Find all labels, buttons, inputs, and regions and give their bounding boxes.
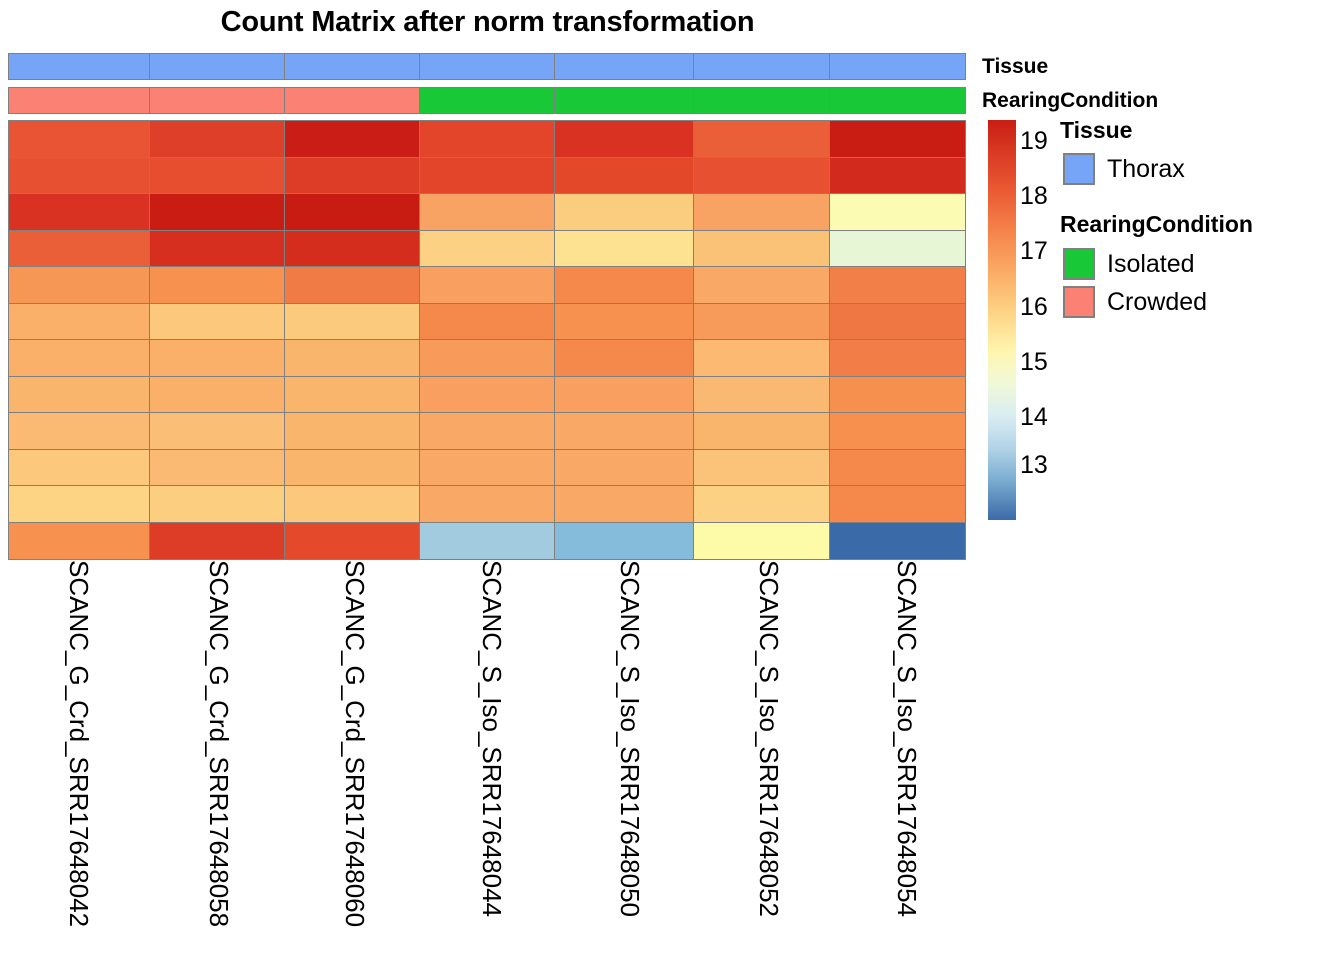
- heatmap-cell: [149, 449, 286, 487]
- heatmap-cell: [284, 376, 420, 414]
- heatmap-cell: [149, 120, 286, 158]
- colorbar-tick-label: 16: [1020, 295, 1048, 320]
- heatmap-row: [8, 449, 975, 486]
- column-label: SCANC_G_Crd_SRR17648042: [66, 560, 92, 927]
- heatmap-cell: [419, 376, 556, 414]
- heatmap-cell: [284, 485, 420, 523]
- heatmap-cell: [284, 230, 420, 268]
- colorbar-tick-label: 15: [1020, 350, 1048, 375]
- heatmap-cell: [419, 120, 556, 158]
- legend-swatch-isolated: [1063, 248, 1095, 280]
- heatmap-cell: [284, 412, 420, 450]
- heatmap-cell: [693, 157, 831, 195]
- heatmap-cell: [284, 266, 420, 304]
- annotation-cell: [829, 87, 966, 114]
- heatmap-cell: [693, 303, 831, 341]
- heatmap-cell: [554, 193, 694, 231]
- heatmap-cell: [554, 230, 694, 268]
- heatmap-cell: [8, 193, 150, 231]
- column-label-slot: SCANC_G_Crd_SRR17648042: [8, 560, 150, 958]
- heatmap-cell: [8, 449, 150, 487]
- column-label-slot: SCANC_S_Iso_SRR17648052: [700, 560, 838, 958]
- heatmap-cell: [419, 339, 556, 377]
- heatmap-cell: [554, 449, 694, 487]
- page-title: Count Matrix after norm transformation: [0, 2, 975, 42]
- heatmap-cell: [149, 157, 286, 195]
- heatmap-cell: [554, 376, 694, 414]
- heatmap-cell: [693, 449, 831, 487]
- heatmap-row: [8, 193, 975, 230]
- heatmap-cell: [149, 339, 286, 377]
- heatmap-cell: [829, 522, 966, 560]
- heatmap-cell: [693, 485, 831, 523]
- legend-label-thorax: Thorax: [1107, 157, 1185, 182]
- heatmap-cell: [554, 303, 694, 341]
- heatmap-row: [8, 157, 975, 194]
- heatmap-cell: [8, 522, 150, 560]
- heatmap-cell: [8, 266, 150, 304]
- column-label-slot: SCANC_G_Crd_SRR17648060: [287, 560, 423, 958]
- column-label: SCANC_S_Iso_SRR17648052: [756, 560, 782, 917]
- legend-item-thorax[interactable]: Thorax: [1063, 153, 1185, 185]
- heatmap-cell: [149, 412, 286, 450]
- annotation-cell: [693, 53, 831, 80]
- heatmap-row: [8, 412, 975, 449]
- heatmap-cell: [149, 266, 286, 304]
- heatmap-row: [8, 376, 975, 413]
- heatmap-cell: [829, 412, 966, 450]
- heatmap-row: [8, 120, 975, 157]
- rearing-condition-annotation-label: RearingCondition: [982, 87, 1158, 114]
- legend-title-rearing-condition: RearingCondition: [1060, 212, 1253, 236]
- heatmap-cell: [8, 157, 150, 195]
- column-label-slot: SCANC_S_Iso_SRR17648044: [423, 560, 560, 958]
- column-label: SCANC_S_Iso_SRR17648050: [617, 560, 643, 917]
- heatmap-cell: [829, 120, 966, 158]
- heatmap-cell: [693, 230, 831, 268]
- annotation-cell: [8, 53, 150, 80]
- rearing-condition-annotation-bar: [8, 87, 975, 114]
- heatmap-cell: [149, 485, 286, 523]
- colorbar: [988, 120, 1016, 520]
- heatmap-cell: [554, 120, 694, 158]
- heatmap-cell: [829, 266, 966, 304]
- tissue-annotation-bar: [8, 53, 975, 80]
- colorbar-tick-label: 17: [1020, 239, 1048, 264]
- legend-title-tissue: Tissue: [1060, 118, 1132, 142]
- legend-label-crowded: Crowded: [1107, 290, 1207, 315]
- annotation-cell: [419, 87, 556, 114]
- heatmap-row: [8, 230, 975, 267]
- colorbar-tick-label: 18: [1020, 184, 1048, 209]
- heatmap-cell: [149, 303, 286, 341]
- heatmap-cell: [284, 522, 420, 560]
- annotation-cell: [554, 53, 694, 80]
- legend-swatch-thorax: [1063, 153, 1095, 185]
- heatmap-cell: [8, 303, 150, 341]
- heatmap-row: [8, 485, 975, 522]
- heatmap-cell: [554, 339, 694, 377]
- heatmap-grid: [8, 120, 975, 558]
- colorbar-tick-label: 19: [1020, 129, 1048, 154]
- heatmap-cell: [829, 339, 966, 377]
- heatmap-cell: [149, 376, 286, 414]
- heatmap-row: [8, 266, 975, 303]
- heatmap-cell: [419, 485, 556, 523]
- heatmap-cell: [284, 339, 420, 377]
- heatmap-cell: [554, 412, 694, 450]
- heatmap-row: [8, 339, 975, 376]
- legend-item-isolated[interactable]: Isolated: [1063, 248, 1195, 280]
- heatmap-cell: [419, 303, 556, 341]
- column-label-slot: SCANC_G_Crd_SRR17648058: [150, 560, 287, 958]
- heatmap-cell: [829, 230, 966, 268]
- colorbar-gradient: [988, 120, 1016, 520]
- colorbar-tick-label: 14: [1020, 405, 1048, 430]
- annotation-cell: [284, 87, 420, 114]
- heatmap-cell: [149, 522, 286, 560]
- heatmap-cell: [554, 522, 694, 560]
- heatmap-cell: [554, 157, 694, 195]
- heatmap-cell: [693, 412, 831, 450]
- heatmap-cell: [829, 449, 966, 487]
- heatmap-cell: [693, 376, 831, 414]
- heatmap-cell: [284, 193, 420, 231]
- annotation-cell: [284, 53, 420, 80]
- heatmap-cell: [693, 339, 831, 377]
- heatmap-cell: [419, 157, 556, 195]
- column-label: SCANC_S_Iso_SRR17648044: [479, 560, 505, 917]
- heatmap-cell: [284, 303, 420, 341]
- column-labels: SCANC_G_Crd_SRR17648042SCANC_G_Crd_SRR17…: [8, 560, 975, 958]
- heatmap-row: [8, 303, 975, 340]
- heatmap-cell: [693, 193, 831, 231]
- heatmap-cell: [829, 485, 966, 523]
- column-label: SCANC_S_Iso_SRR17648054: [894, 560, 920, 917]
- annotation-cell: [554, 87, 694, 114]
- heatmap-cell: [829, 193, 966, 231]
- heatmap-cell: [554, 266, 694, 304]
- annotation-cell: [419, 53, 556, 80]
- heatmap-cell: [829, 303, 966, 341]
- tissue-annotation-label: Tissue: [982, 53, 1048, 80]
- heatmap-cell: [829, 157, 966, 195]
- annotation-cell: [693, 87, 831, 114]
- legend-swatch-crowded: [1063, 286, 1095, 318]
- heatmap-cell: [8, 376, 150, 414]
- annotation-cell: [149, 87, 286, 114]
- heatmap-cell: [284, 449, 420, 487]
- heatmap-cell: [829, 376, 966, 414]
- legend-label-isolated: Isolated: [1107, 252, 1195, 277]
- annotation-cell: [149, 53, 286, 80]
- heatmap-cell: [149, 193, 286, 231]
- heatmap-cell: [419, 522, 556, 560]
- heatmap-cell: [8, 230, 150, 268]
- heatmap-row: [8, 522, 975, 559]
- heatmap-cell: [419, 230, 556, 268]
- heatmap-cell: [419, 193, 556, 231]
- column-label: SCANC_G_Crd_SRR17648058: [206, 560, 232, 927]
- heatmap-cell: [693, 522, 831, 560]
- colorbar-tick-label: 13: [1020, 453, 1048, 478]
- column-label: SCANC_G_Crd_SRR17648060: [342, 560, 368, 927]
- heatmap-cell: [419, 449, 556, 487]
- annotation-cell: [829, 53, 966, 80]
- heatmap-cell: [419, 412, 556, 450]
- column-label-slot: SCANC_S_Iso_SRR17648050: [560, 560, 700, 958]
- heatmap-cell: [8, 120, 150, 158]
- heatmap-cell: [284, 120, 420, 158]
- column-label-slot: SCANC_S_Iso_SRR17648054: [838, 560, 975, 958]
- annotation-cell: [8, 87, 150, 114]
- heatmap-cell: [8, 339, 150, 377]
- heatmap-cell: [149, 230, 286, 268]
- heatmap-cell: [8, 485, 150, 523]
- heatmap-cell: [8, 412, 150, 450]
- heatmap-cell: [419, 266, 556, 304]
- legend-item-crowded[interactable]: Crowded: [1063, 286, 1207, 318]
- heatmap-cell: [693, 120, 831, 158]
- heatmap-cell: [693, 266, 831, 304]
- heatmap-cell: [284, 157, 420, 195]
- heatmap-cell: [554, 485, 694, 523]
